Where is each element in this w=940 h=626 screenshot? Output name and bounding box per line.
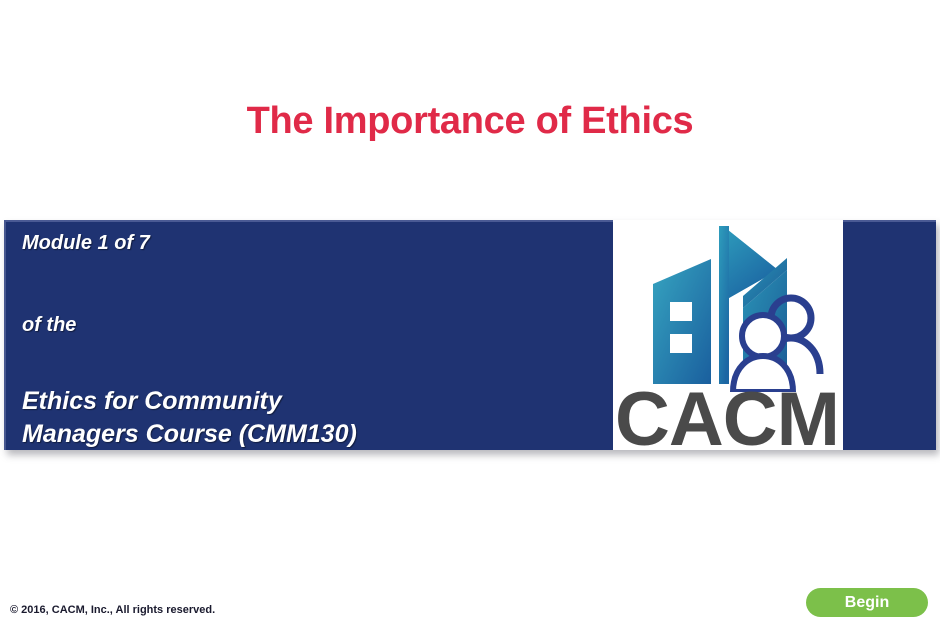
- copyright-text: © 2016, CACM, Inc., All rights reserved.: [10, 604, 215, 616]
- course-title-line-2: Managers Course (CMM130): [22, 418, 602, 451]
- cacm-logo-card: CACM: [613, 220, 843, 450]
- course-title-label: Ethics for Community Managers Course (CM…: [22, 385, 602, 451]
- page-title: The Importance of Ethics: [0, 100, 940, 143]
- course-title-line-1: Ethics for Community: [22, 385, 602, 418]
- module-banner-text: Module 1 of 7 of the Ethics for Communit…: [22, 230, 602, 451]
- of-the-label: of the: [22, 312, 602, 338]
- cacm-wordmark: CACM: [615, 380, 865, 460]
- begin-button[interactable]: Begin: [806, 588, 928, 617]
- module-number-label: Module 1 of 7: [22, 230, 602, 256]
- title-slide: The Importance of Ethics Module 1 of 7 o…: [0, 0, 940, 626]
- cacm-building-icon: [623, 222, 838, 392]
